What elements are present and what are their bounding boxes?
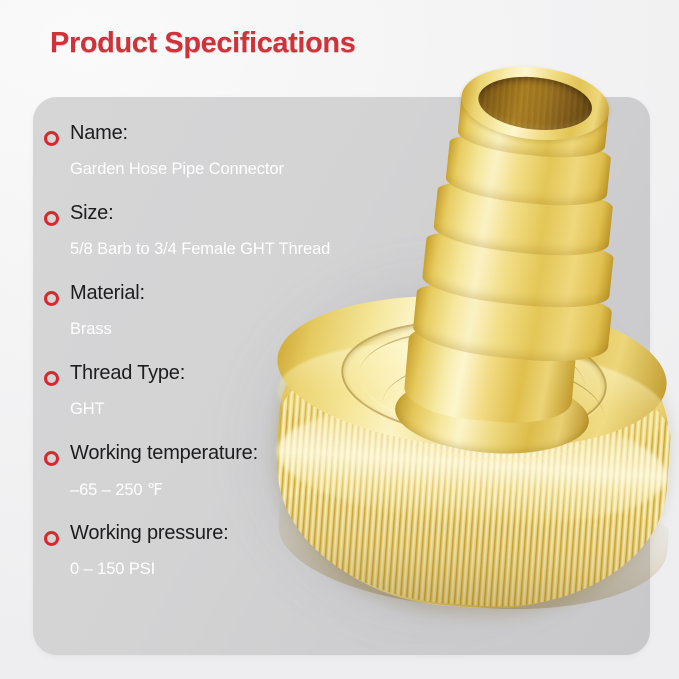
spec-value: 5/8 Barb to 3/4 Female GHT Thread <box>70 240 330 259</box>
bullet-ring-icon <box>44 531 59 546</box>
specifications-panel: Name: Garden Hose Pipe Connector Size: 5… <box>33 97 650 655</box>
spec-label: Working pressure: <box>70 522 229 545</box>
spec-label: Name: <box>70 122 128 145</box>
spec-row-working-temperature: Working temperature: –65 – 250 ℉ <box>44 442 514 522</box>
spec-row-material: Material: Brass <box>44 282 514 362</box>
spec-row-thread-type: Thread Type: GHT <box>44 362 514 442</box>
spec-label: Size: <box>70 202 113 225</box>
bullet-ring-icon <box>44 371 59 386</box>
spec-value: Garden Hose Pipe Connector <box>70 160 284 179</box>
page-title: Product Specifications <box>50 27 355 60</box>
bullet-ring-icon <box>44 451 59 466</box>
spec-value: GHT <box>70 400 105 419</box>
specifications-list: Name: Garden Hose Pipe Connector Size: 5… <box>44 122 514 602</box>
spec-label: Working temperature: <box>70 442 258 465</box>
bullet-ring-icon <box>44 291 59 306</box>
spec-label: Material: <box>70 282 145 305</box>
spec-label: Thread Type: <box>70 362 185 385</box>
bullet-ring-icon <box>44 211 59 226</box>
spec-value: Brass <box>70 320 112 339</box>
spec-row-name: Name: Garden Hose Pipe Connector <box>44 122 514 202</box>
spec-value: 0 – 150 PSI <box>70 560 155 579</box>
spec-row-size: Size: 5/8 Barb to 3/4 Female GHT Thread <box>44 202 514 282</box>
product-specifications-page: Product Specifications Name: Garden Hose… <box>0 0 679 679</box>
spec-value: –65 – 250 ℉ <box>70 480 163 500</box>
bullet-ring-icon <box>44 131 59 146</box>
spec-row-working-pressure: Working pressure: 0 – 150 PSI <box>44 522 514 602</box>
